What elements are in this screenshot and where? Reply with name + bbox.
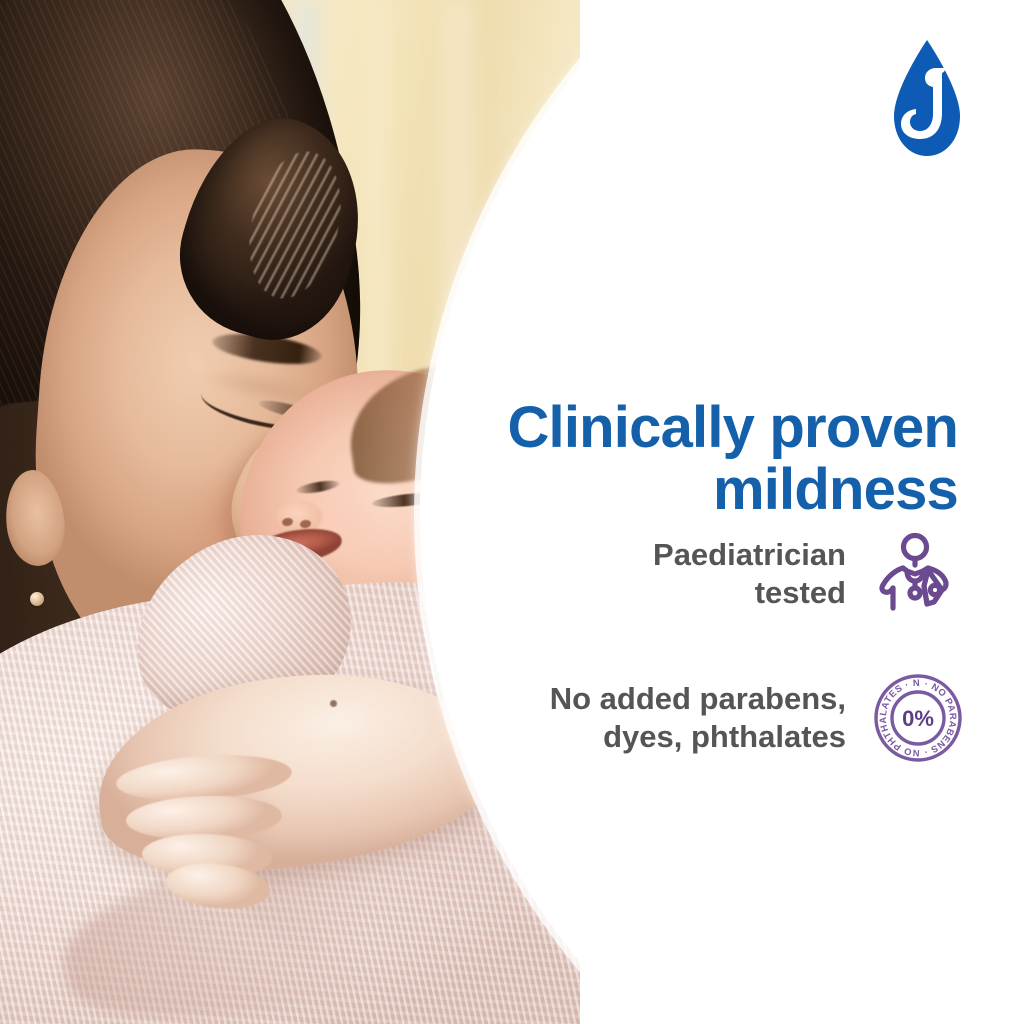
advertisement-banner: Clinically proven mildness Paediatrician… <box>0 0 1024 1024</box>
claims-list: Paediatrician tested <box>472 528 964 816</box>
seal-center-text: 0% <box>902 706 934 731</box>
page-title: Clinically proven mildness <box>488 397 958 521</box>
no-parabens-seal-icon: · NO PARABENS · NO PHTHALATES · NO DYES … <box>872 672 964 764</box>
paediatrician-icon <box>872 528 964 620</box>
headline-line-2: mildness <box>713 457 958 522</box>
content-column: Clinically proven mildness Paediatrician… <box>470 0 1024 1024</box>
johnsons-water-drop-logo[interactable] <box>886 38 968 160</box>
headline-line-1: Clinically proven <box>507 395 958 460</box>
mother-earring <box>30 592 44 606</box>
claim-label: Paediatrician tested <box>472 536 846 612</box>
claim-2-line-1: No added parabens, <box>550 681 846 716</box>
skin-mark <box>330 700 337 707</box>
claim-1-line-2: tested <box>755 575 846 610</box>
claim-2-line-2: dyes, phthalates <box>603 719 846 754</box>
claim-item-paediatrician-tested: Paediatrician tested <box>472 528 964 620</box>
claim-1-line-1: Paediatrician <box>653 537 846 572</box>
claim-item-no-added-parabens: No added parabens, dyes, phthalates · NO… <box>472 672 964 764</box>
claim-label: No added parabens, dyes, phthalates <box>472 680 846 756</box>
